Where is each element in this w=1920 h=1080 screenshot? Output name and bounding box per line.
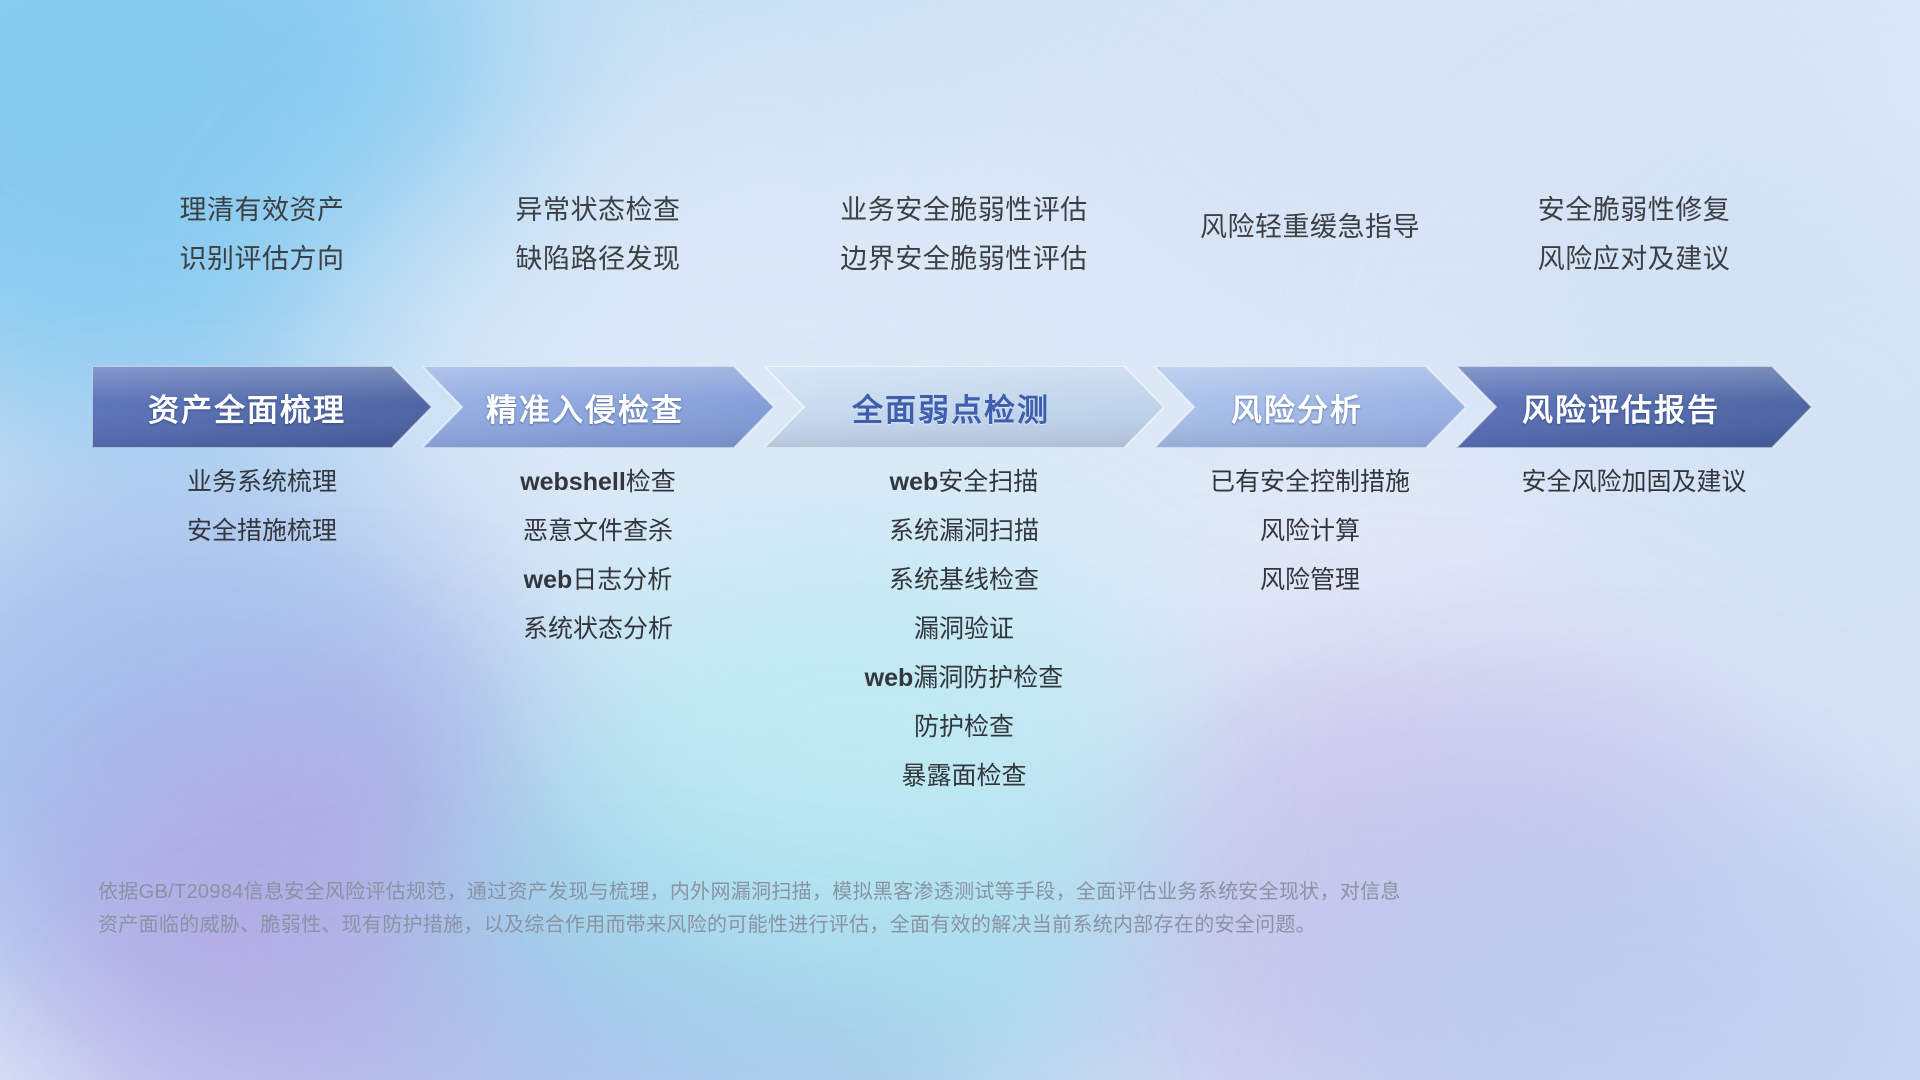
process-stage-title: 全面弱点检测 [764,385,1164,430]
footer-line-1: 依据GB/T20984信息安全风险评估规范，通过资产发现与梳理，内外网漏洞扫描，… [98,876,1658,909]
process-stage-5[interactable]: 风险评估报告 [1456,366,1812,448]
process-arrow-banner: 资产全面梳理精准入侵检查全面弱点检测风险分析风险评估报告 [92,366,1852,448]
footer-line-2: 资产面临的威胁、脆弱性、现有防护措施，以及综合作用而带来风险的可能性进行评估，全… [98,909,1658,942]
stage-top-label-group-3: 业务安全脆弱性评估边界安全脆弱性评估 [764,186,1164,284]
stage-detail-item: 防护检查 [744,703,1184,752]
stage-top-labels: 理清有效资产识别评估方向异常状态检查缺陷路径发现业务安全脆弱性评估边界安全脆弱性… [0,0,1920,300]
stage-top-label: 异常状态检查 [398,186,798,235]
process-stage-4[interactable]: 风险分析 [1154,366,1466,448]
stage-detail-list-5: 安全风险加固及建议 [1414,458,1854,507]
stage-top-label-group-5: 安全脆弱性修复风险应对及建议 [1434,186,1834,284]
stage-detail-item: 漏洞验证 [744,605,1184,654]
stage-top-label: 安全脆弱性修复 [1434,186,1834,235]
footer-description: 依据GB/T20984信息安全风险评估规范，通过资产发现与梳理，内外网漏洞扫描，… [98,876,1658,942]
process-stage-3[interactable]: 全面弱点检测 [764,366,1164,448]
stage-top-label: 风险应对及建议 [1434,235,1834,284]
stage-detail-item: 风险计算 [1090,507,1530,556]
process-stage-title: 资产全面梳理 [92,385,432,430]
stage-top-label-group-2: 异常状态检查缺陷路径发现 [398,186,798,284]
process-stage-2[interactable]: 精准入侵检查 [422,366,774,448]
process-stage-title: 风险分析 [1154,385,1466,430]
stage-detail-item: web漏洞防护检查 [744,654,1184,703]
stage-detail-item: 安全风险加固及建议 [1414,458,1854,507]
infographic: 理清有效资产识别评估方向异常状态检查缺陷路径发现业务安全脆弱性评估边界安全脆弱性… [0,0,1920,1080]
stage-top-label: 边界安全脆弱性评估 [764,235,1164,284]
process-stage-title: 风险评估报告 [1456,385,1812,430]
process-stage-title: 精准入侵检查 [422,385,774,430]
process-stage-1[interactable]: 资产全面梳理 [92,366,432,448]
stage-detail-item: 暴露面检查 [744,752,1184,801]
stage-top-label: 缺陷路径发现 [398,235,798,284]
stage-detail-item: 风险管理 [1090,556,1530,605]
stage-top-label: 业务安全脆弱性评估 [764,186,1164,235]
